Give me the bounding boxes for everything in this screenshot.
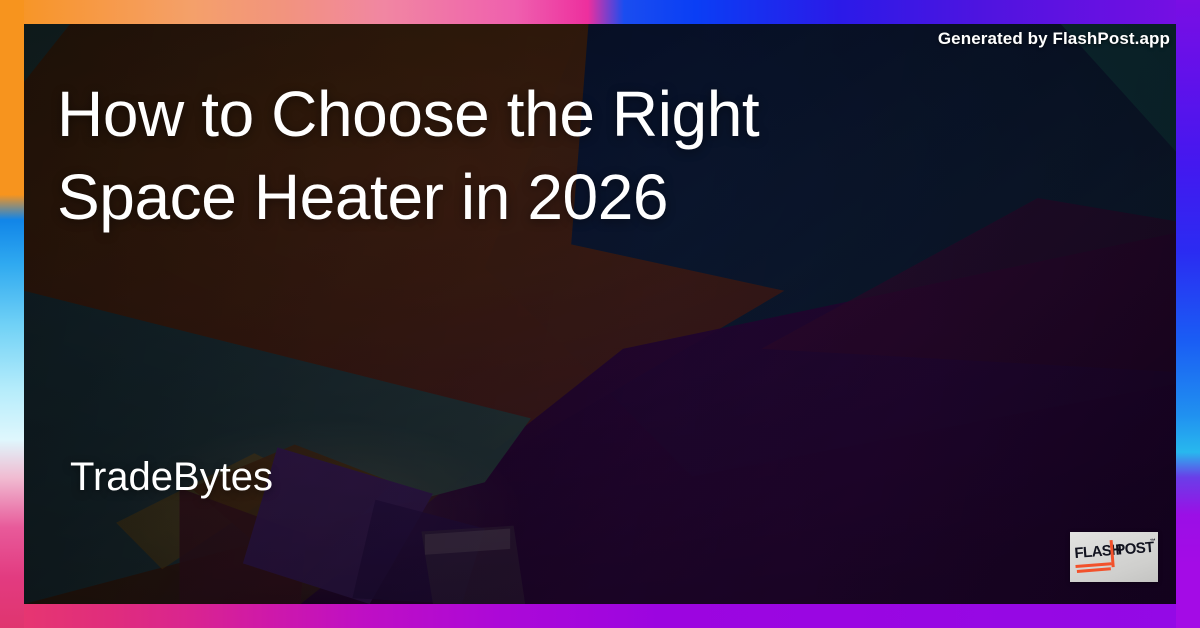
attribution-label: Generated by FlashPost.app	[938, 29, 1170, 49]
page-title-line-2: Space Heater in 2026	[57, 156, 987, 239]
flashpost-logo-trademark: ™	[1150, 539, 1156, 545]
page-title-line-1: How to Choose the Right	[57, 73, 987, 156]
flashpost-logo-rule-lower	[1077, 567, 1111, 572]
flashpost-logo-inner: FLASH POST ™	[1074, 540, 1154, 576]
card-content: Generated by FlashPost.app How to Choose…	[0, 0, 1200, 628]
flashpost-logo-watermark: FLASH POST ™	[1070, 532, 1158, 582]
social-share-card: Generated by FlashPost.app How to Choose…	[0, 0, 1200, 628]
brand-name: TradeBytes	[70, 455, 273, 500]
flashpost-logo-word-post: POST	[1115, 540, 1155, 558]
page-title: How to Choose the Right Space Heater in …	[57, 73, 987, 239]
